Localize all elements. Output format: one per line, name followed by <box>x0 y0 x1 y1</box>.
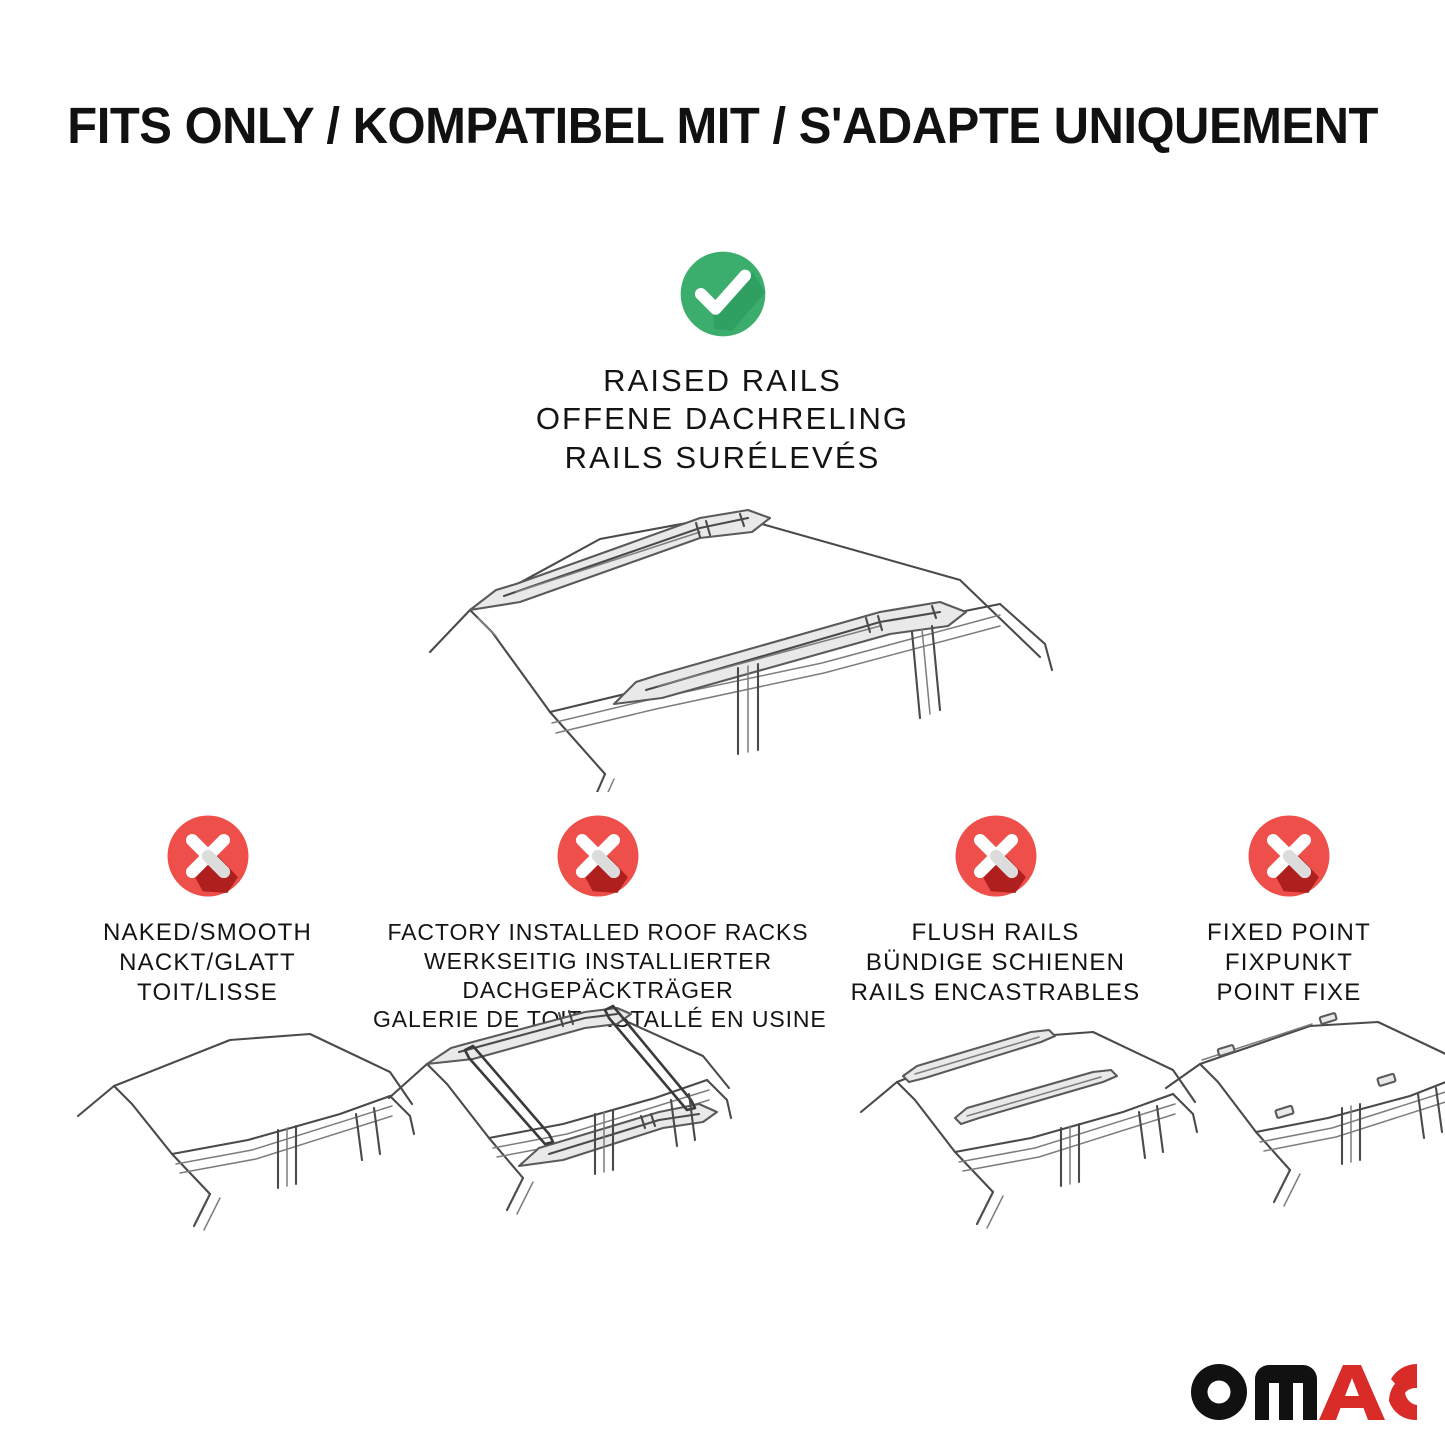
label-en: FIXED POINT <box>1160 918 1418 948</box>
x-circle-icon <box>1245 812 1333 900</box>
label-en: FACTORY INSTALLED ROOF RACKS <box>373 918 823 947</box>
label-de: FIXPUNKT <box>1160 948 1418 978</box>
label-fr: POINT FIXE <box>1160 978 1418 1008</box>
omac-logo <box>1185 1361 1417 1423</box>
car-roof-factory-roof-racks-illustration <box>373 998 773 1258</box>
incompatible-item-naked-smooth: NAKED/SMOOTH NACKT/GLATT TOIT/LISSE <box>60 812 355 1009</box>
car-roof-naked-smooth-illustration <box>60 1008 420 1258</box>
incompatible-labels-naked-smooth: NAKED/SMOOTH NACKT/GLATT TOIT/LISSE <box>60 918 355 1009</box>
car-roof-flush-rails-illustration <box>843 1008 1203 1258</box>
label-en: FLUSH RAILS <box>843 918 1148 948</box>
page-title: FITS ONLY / KOMPATIBEL MIT / S'ADAPTE UN… <box>0 96 1445 155</box>
compatible-labels: RAISED RAILS OFFENE DACHRELING RAILS SUR… <box>0 362 1445 477</box>
label-en: NAKED/SMOOTH <box>60 918 355 948</box>
compatible-label-de: OFFENE DACHRELING <box>0 400 1445 438</box>
x-circle-icon <box>164 812 252 900</box>
label-fr: RAILS ENCASTRABLES <box>843 978 1148 1008</box>
label-fr: TOIT/LISSE <box>60 978 355 1008</box>
label-de: NACKT/GLATT <box>60 948 355 978</box>
page-title-text: FITS ONLY / KOMPATIBEL MIT / S'ADAPTE UN… <box>67 96 1378 155</box>
incompatible-labels-fixed-point: FIXED POINT FIXPUNKT POINT FIXE <box>1160 918 1418 1009</box>
x-circle-icon <box>554 812 642 900</box>
label-de: BÜNDIGE SCHIENEN <box>843 948 1148 978</box>
check-circle-icon <box>677 248 769 340</box>
label-de-1: WERKSEITIG INSTALLIERTER <box>373 947 823 976</box>
compatible-section: RAISED RAILS OFFENE DACHRELING RAILS SUR… <box>0 248 1445 477</box>
car-roof-fixed-point-illustration <box>1160 1008 1445 1258</box>
incompatible-item-factory-racks: FACTORY INSTALLED ROOF RACKS WERKSEITIG … <box>373 812 823 1034</box>
compatible-label-fr: RAILS SURÉLEVÉS <box>0 439 1445 477</box>
car-roof-raised-rails-illustration <box>400 492 1060 792</box>
compatible-label-en: RAISED RAILS <box>0 362 1445 400</box>
incompatible-item-fixed-point: FIXED POINT FIXPUNKT POINT FIXE <box>1160 812 1418 1009</box>
incompatible-labels-flush-rails: FLUSH RAILS BÜNDIGE SCHIENEN RAILS ENCAS… <box>843 918 1148 1009</box>
incompatible-item-flush-rails: FLUSH RAILS BÜNDIGE SCHIENEN RAILS ENCAS… <box>843 812 1148 1009</box>
incompatible-section: NAKED/SMOOTH NACKT/GLATT TOIT/LISSE <box>0 812 1445 1432</box>
x-circle-icon <box>952 812 1040 900</box>
